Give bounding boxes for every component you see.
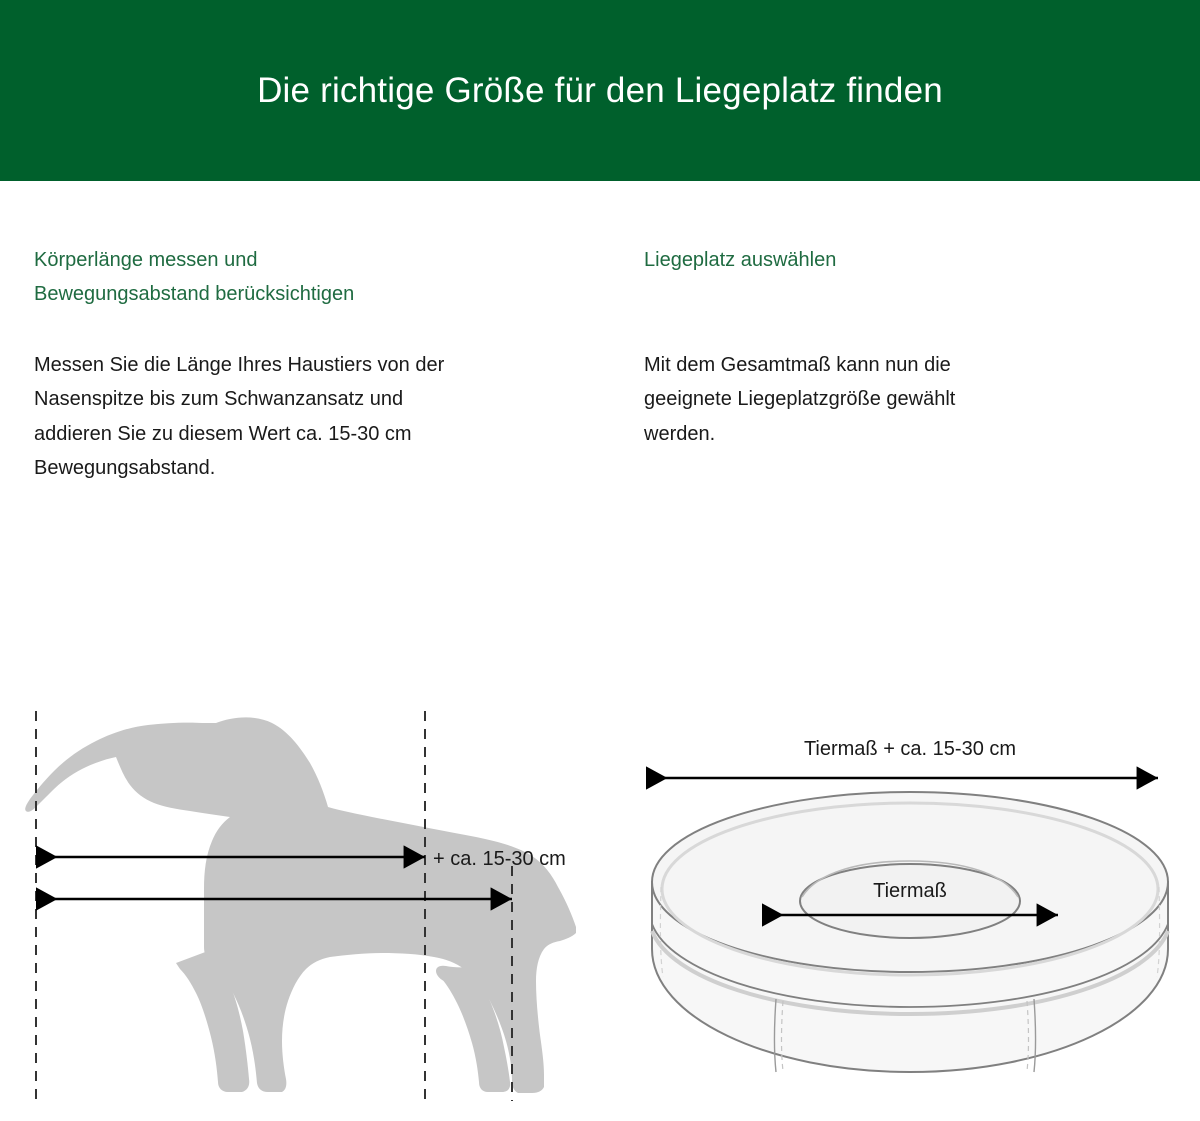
left-column-paragraph: Messen Sie die Länge Ihres Haustiers von… — [34, 348, 444, 486]
dog-measurement-figure: + ca. 15-30 cm — [20, 701, 600, 1121]
content-area: Körperlänge messen und Bewegungsabstand … — [0, 181, 1200, 1029]
bed-figure: Tiermaß + ca. 15-30 cm — [630, 731, 1190, 1121]
bed-inner-dimension-label: Tiermaß — [873, 880, 947, 902]
page-title: Die richtige Größe für den Liegeplatz fi… — [257, 70, 943, 112]
right-column-paragraph: Mit dem Gesamtmaß kann nun die geeignete… — [644, 348, 955, 451]
pet-bed-icon — [652, 792, 1168, 1072]
dog-silhouette-icon — [25, 717, 576, 1093]
header-banner: Die richtige Größe für den Liegeplatz fi… — [0, 0, 1200, 181]
dog-allowance-label: + ca. 15-30 cm — [433, 848, 566, 870]
left-column-heading: Körperlänge messen und Bewegungsabstand … — [34, 243, 354, 312]
right-column-heading: Liegeplatz auswählen — [644, 243, 836, 277]
bed-outer-dimension-label: Tiermaß + ca. 15-30 cm — [804, 738, 1016, 760]
